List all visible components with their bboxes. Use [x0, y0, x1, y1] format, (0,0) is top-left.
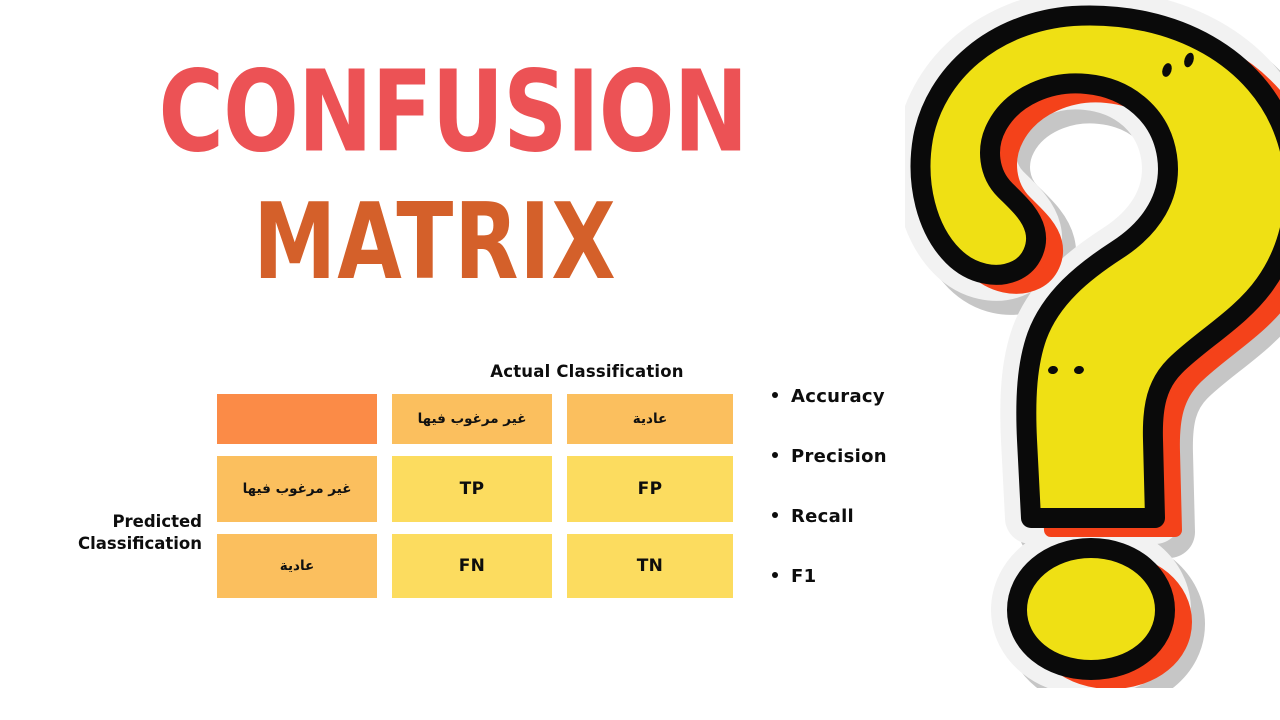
- matrix-header-row: غير مرغوب فيها عادية: [217, 394, 733, 444]
- metric-label-accuracy: Accuracy: [791, 386, 885, 407]
- matrix-column-header-1: عادية: [567, 394, 733, 444]
- list-item: Accuracy: [772, 386, 887, 446]
- bullet-icon: [772, 512, 778, 518]
- table-row: غير مرغوب فيها TP FP: [217, 456, 733, 522]
- page-title-line-2: MATRIX: [159, 190, 712, 295]
- matrix-cell-fn: FN: [392, 534, 552, 598]
- predicted-classification-header-line-2: Classification: [72, 533, 202, 555]
- bullet-icon: [772, 392, 778, 398]
- matrix-column-header-0: غير مرغوب فيها: [392, 394, 552, 444]
- metric-label-recall: Recall: [791, 506, 854, 527]
- metric-label-precision: Precision: [791, 446, 887, 467]
- page-title: CONFUSION MATRIX: [150, 58, 720, 276]
- list-item: Recall: [772, 506, 887, 566]
- matrix-cell-fp: FP: [567, 456, 733, 522]
- matrix-corner-cell: [217, 394, 377, 444]
- actual-classification-header: Actual Classification: [392, 362, 782, 381]
- matrix-cell-tp: TP: [392, 456, 552, 522]
- metrics-list: Accuracy Precision Recall F1: [772, 386, 887, 626]
- matrix-row-header-1: عادية: [217, 534, 377, 598]
- predicted-classification-header-line-1: Predicted: [72, 511, 202, 533]
- table-row: عادية FN TN: [217, 534, 733, 598]
- matrix-row-header-0: غير مرغوب فيها: [217, 456, 377, 522]
- page-title-line-1: CONFUSION: [159, 58, 712, 168]
- list-item: F1: [772, 566, 887, 626]
- question-mark-icon: [905, 0, 1280, 688]
- bullet-icon: [772, 452, 778, 458]
- metric-label-f1: F1: [791, 566, 816, 587]
- bullet-icon: [772, 572, 778, 578]
- matrix-cell-tn: TN: [567, 534, 733, 598]
- predicted-classification-header: Predicted Classification: [72, 511, 202, 556]
- confusion-matrix: Actual Classification Predicted Classifi…: [217, 394, 733, 598]
- list-item: Precision: [772, 446, 887, 506]
